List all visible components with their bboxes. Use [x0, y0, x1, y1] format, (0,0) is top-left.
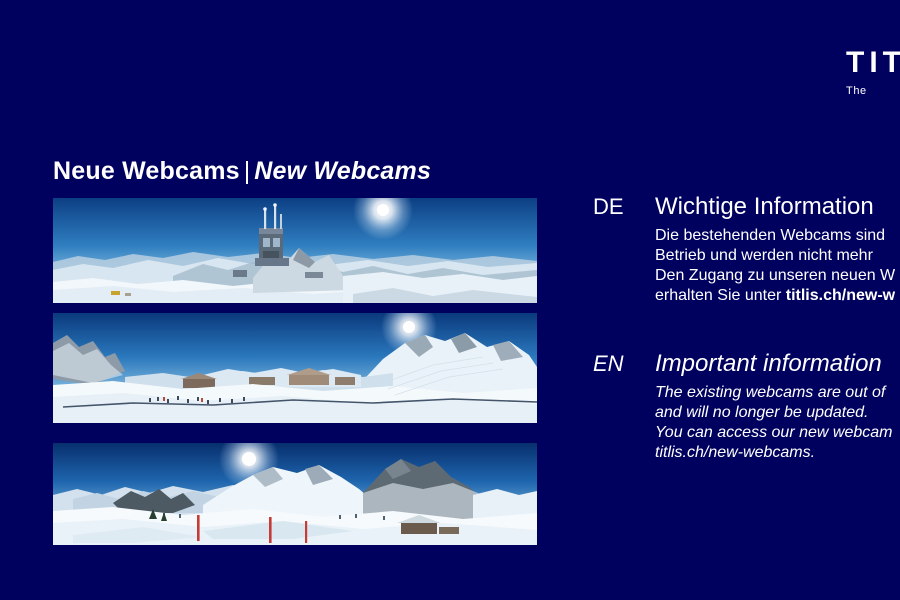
panorama-slopes[interactable]	[53, 443, 537, 545]
info-body-en: The existing webcams are out of and will…	[655, 383, 900, 463]
info-title-en: Important information	[655, 350, 882, 378]
info-body-en-line-3: You can access our new webcam	[655, 423, 900, 443]
info-block-en-head: EN Important information	[593, 350, 900, 378]
info-body-de-line-2: Betrieb und werden nicht mehr	[655, 246, 900, 266]
panorama-ski-area[interactable]	[53, 313, 537, 423]
info-body-en-line-2: and will no longer be updated.	[655, 403, 900, 423]
info-body-de-line-4-prefix: erhalten Sie unter	[655, 287, 786, 304]
language-tag-de: DE	[593, 194, 655, 220]
info-body-de-line-1: Die bestehenden Webcams sind	[655, 226, 900, 246]
panorama-summit-station-image	[53, 198, 537, 303]
info-column: DE Wichtige Information Die bestehenden …	[593, 193, 900, 463]
info-body-de-line-3: Den Zugang zu unseren neuen W	[655, 266, 900, 286]
titlis-logo: TIT The	[846, 48, 900, 97]
info-url-en[interactable]: titlis.ch/new-webcams.	[655, 443, 900, 463]
language-tag-en: EN	[593, 351, 655, 377]
info-title-de: Wichtige Information	[655, 193, 874, 221]
info-body-de: Die bestehenden Webcams sind Betrieb und…	[655, 226, 900, 306]
page-title-separator: |	[240, 157, 255, 185]
page-title: Neue Webcams|New Webcams	[53, 156, 431, 186]
info-body-de-line-4: erhalten Sie unter titlis.ch/new-w	[655, 286, 900, 306]
info-body-en-line-1: The existing webcams are out of	[655, 383, 900, 403]
page-title-english: New Webcams	[254, 157, 431, 185]
page-title-german: Neue Webcams	[53, 157, 240, 185]
info-block-de-head: DE Wichtige Information	[593, 193, 900, 221]
info-block-en: EN Important information The existing we…	[593, 350, 900, 463]
panorama-summit-station[interactable]	[53, 198, 537, 303]
logo-wordmark: TIT	[846, 48, 900, 78]
info-url-de[interactable]: titlis.ch/new-w	[786, 287, 895, 304]
poster-canvas: TIT The Neue Webcams|New Webcams	[0, 0, 900, 600]
logo-tagline: The	[846, 85, 900, 97]
panorama-slopes-image	[53, 443, 537, 545]
info-block-de: DE Wichtige Information Die bestehenden …	[593, 193, 900, 306]
panorama-ski-area-image	[53, 313, 537, 423]
